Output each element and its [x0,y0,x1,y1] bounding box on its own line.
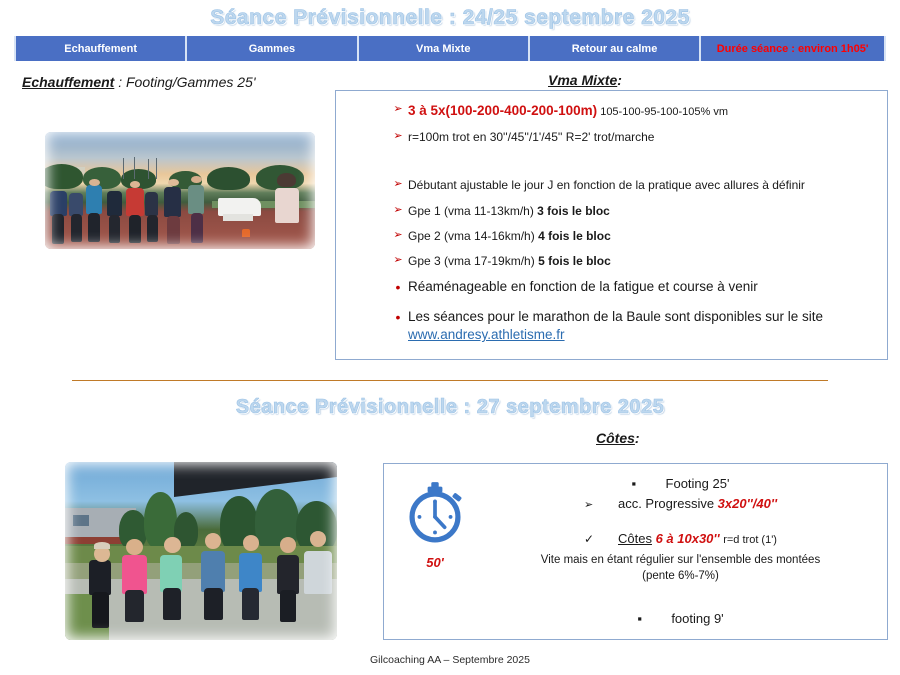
square-bullet-icon [637,614,642,626]
phase-gammes[interactable]: Gammes [187,36,358,61]
vma-item-gpe-1: Gpe 1 (vma 11-13km/h) 3 fois le bloc [388,203,873,219]
cotes-item-footing-25: Footing 25' [484,474,877,494]
vma-item-gpe-3-reps: 5 fois le bloc [538,254,611,268]
vma-item-gpe-1-reps: 3 fois le bloc [537,204,610,218]
echauffement-heading-word: Echauffement [22,74,114,90]
vma-item-reamenageable: Réaménageable en fonction de la fatigue … [388,278,873,297]
vma-item-intervals-emphasis: 3 à 5x(100-200-400-200-100m) [408,103,597,118]
dot-bullet-icon [388,278,408,297]
vma-mixte-content-box: 3 à 5x(100-200-400-200-100m) 105-100-95-… [335,90,888,360]
session-2-title: Séance Prévisionnelle : 27 septembre 202… [0,396,900,419]
vma-item-intervals-rest: 105-100-95-100-105% vm [597,106,728,118]
session-duration-label: Durée séance : environ 1h05' [717,43,869,55]
phase-echauffement-label: Echauffement [64,43,137,55]
echauffement-detail: Footing/Gammes 25' [126,74,256,90]
cotes-item-acc-progressive: acc. Progressive 3x20''/40'' [484,494,877,514]
vma-item-marathon-baule: Les séances pour le marathon de la Baule… [388,308,873,344]
session-phases-bar: Echauffement Gammes Vma Mixte Retour au … [14,36,886,61]
stopwatch-block: 50' [392,474,478,570]
cotes-item-cotes-emphasis: 6 à 10x30'' [652,531,723,546]
andresy-athletisme-link[interactable]: www.andresy.athletisme.fr [408,327,565,342]
vma-mixte-item-list: 3 à 5x(100-200-400-200-100m) 105-100-95-… [388,102,873,355]
cotes-content-box: 50' Footing 25' acc. Progressive 3x20''/… [383,463,888,640]
vma-item-gpe-3-text: Gpe 3 (vma 17-19km/h) [408,254,538,268]
stopwatch-duration-label: 50' [392,555,478,570]
phase-vma-mixte[interactable]: Vma Mixte [359,36,530,61]
square-bullet-icon [632,479,637,491]
arrow-bullet-icon [388,102,408,117]
arrow-bullet-icon [388,203,408,218]
vma-item-recovery-text: r=100m trot en 30''/45''/1'/45'' R=2' tr… [408,129,873,145]
phase-retour-au-calme-label: Retour au calme [572,43,658,55]
echauffement-heading: Echauffement : Footing/Gammes 25' [22,74,256,90]
stopwatch-icon [398,474,472,548]
cotes-item-cotes-rest: r=d trot (1') [723,534,777,546]
vma-item-marathon-baule-text: Les séances pour le marathon de la Baule… [408,309,823,324]
dot-bullet-icon [388,308,408,327]
vma-item-intervals: 3 à 5x(100-200-400-200-100m) 105-100-95-… [388,102,873,120]
session-duration-cell: Durée séance : environ 1h05' [701,36,886,61]
vma-item-debutant-text: Débutant ajustable le jour J en fonction… [408,177,873,193]
cotes-note-line-1: Vite mais en étant régulier sur l'ensemb… [484,552,877,569]
vma-item-recovery: r=100m trot en 30''/45''/1'/45'' R=2' tr… [388,129,873,145]
cotes-heading: Côtes: [596,430,640,446]
vma-item-gpe-2-reps: 4 fois le bloc [538,229,611,243]
arrow-bullet-icon [388,129,408,144]
cotes-item-footing-25-text: Footing 25' [666,476,730,491]
arrow-bullet-icon [388,228,408,243]
arrow-bullet-icon [388,177,408,192]
cotes-item-footing-9-text: footing 9' [671,611,723,626]
vma-mixte-heading-word: Vma Mixte [548,72,617,88]
phase-vma-mixte-label: Vma Mixte [416,43,470,55]
runners-group-photo [65,462,337,640]
check-bullet-icon [584,534,594,546]
cotes-item-footing-9: footing 9' [484,609,877,629]
section-divider [72,380,828,381]
phase-echauffement[interactable]: Echauffement [14,36,187,61]
vma-mixte-heading-colon: : [617,72,622,88]
echauffement-separator: : [114,74,126,90]
vma-item-gpe-3: Gpe 3 (vma 17-19km/h) 5 fois le bloc [388,253,873,269]
arrow-bullet-icon [388,253,408,268]
session-1-title: Séance Prévisionnelle : 24/25 septembre … [0,6,900,30]
cotes-item-cotes: Côtes 6 à 10x30'' r=d trot (1') [484,529,877,549]
vma-item-gpe-2: Gpe 2 (vma 14-16km/h) 4 fois le bloc [388,228,873,244]
vma-item-reamenageable-text: Réaménageable en fonction de la fatigue … [408,278,873,296]
phase-gammes-label: Gammes [249,43,295,55]
cotes-item-acc-progressive-text: acc. Progressive [618,496,718,511]
cotes-item-acc-progressive-emphasis: 3x20''/40'' [718,496,777,511]
footer-credit: Gilcoaching AA – Septembre 2025 [0,654,900,666]
cotes-note-line-2: (pente 6%-7%) [484,568,877,585]
vma-item-gpe-2-text: Gpe 2 (vma 14-16km/h) [408,229,538,243]
arrow-bullet-icon [584,499,593,511]
cotes-heading-colon: : [635,430,640,446]
vma-item-gpe-1-text: Gpe 1 (vma 11-13km/h) [408,204,537,218]
vma-mixte-heading: Vma Mixte: [548,72,622,88]
cotes-item-list: Footing 25' acc. Progressive 3x20''/40''… [484,472,877,628]
runners-on-track-photo [45,132,315,249]
vma-item-debutant: Débutant ajustable le jour J en fonction… [388,177,873,193]
cotes-heading-word: Côtes [596,430,635,446]
phase-retour-au-calme[interactable]: Retour au calme [530,36,701,61]
cotes-item-cotes-label: Côtes [618,531,652,546]
